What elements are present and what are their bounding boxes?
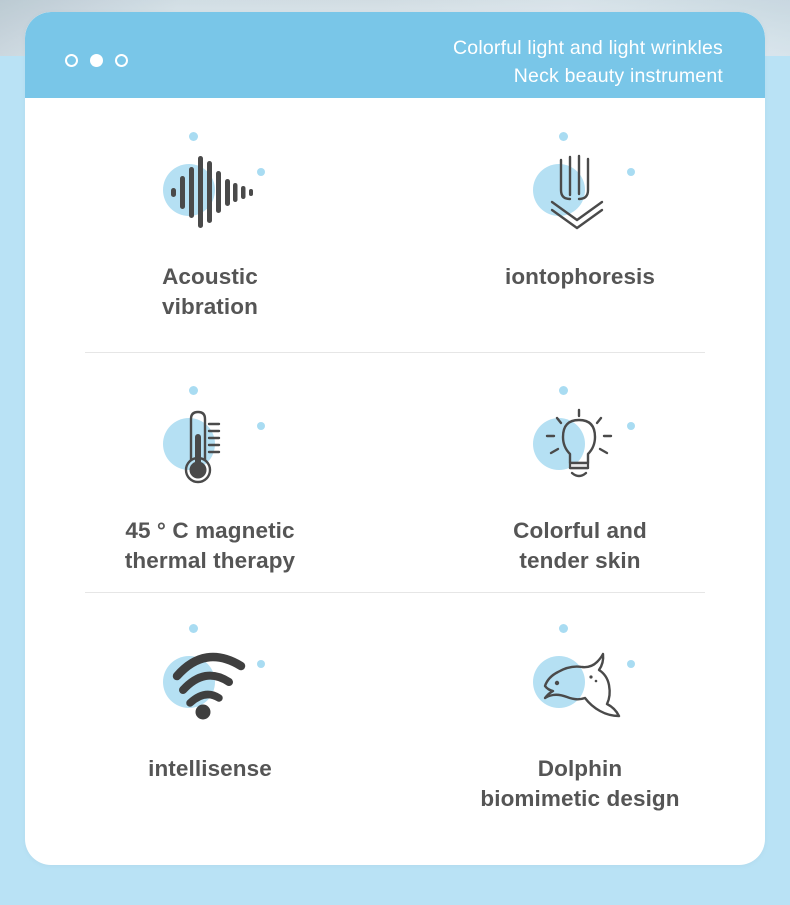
decorative-dot-icon	[559, 386, 568, 395]
feature-label-line-1: iontophoresis	[505, 264, 655, 289]
feature-item-iontophoresis[interactable]: iontophoresis	[395, 98, 765, 352]
feature-row-1: Acoustic vibration	[25, 98, 765, 352]
feature-label-line-1: Acoustic	[162, 264, 258, 289]
icon-wrap	[135, 634, 285, 738]
feature-item-tender-skin[interactable]: Colorful and tender skin	[395, 352, 765, 592]
feature-label: intellisense	[148, 754, 272, 784]
lightbulb-icon	[539, 408, 619, 495]
decorative-dot-icon	[559, 624, 568, 633]
header-title-block: Colorful light and light wrinkles Neck b…	[453, 34, 723, 91]
feature-label-line-2: thermal therapy	[125, 546, 295, 576]
feature-label: iontophoresis	[505, 262, 655, 292]
feature-label-line-1: Dolphin	[538, 756, 622, 781]
feature-label: Acoustic vibration	[162, 262, 258, 322]
card-header: Colorful light and light wrinkles Neck b…	[25, 12, 765, 98]
decorative-dot-icon	[257, 422, 265, 430]
feature-label: Colorful and tender skin	[513, 516, 647, 576]
header-title-line-2: Neck beauty instrument	[453, 62, 723, 90]
feature-item-thermal-therapy[interactable]: 45 ° C magnetic thermal therapy	[25, 352, 395, 592]
feature-label-line-2: tender skin	[513, 546, 647, 576]
icon-wrap	[505, 142, 655, 246]
feature-label-line-2: biomimetic design	[480, 784, 679, 814]
feature-item-intellisense[interactable]: intellisense	[25, 592, 395, 838]
feature-label-line-1: intellisense	[148, 756, 272, 781]
decorative-dot-icon	[189, 132, 198, 141]
decorative-dot-icon	[627, 660, 635, 668]
decorative-dot-icon	[257, 168, 265, 176]
icon-wrap	[135, 396, 285, 500]
decorative-dot-icon	[189, 386, 198, 395]
decorative-dot-icon	[257, 660, 265, 668]
decorative-dot-icon	[559, 132, 568, 141]
window-dot-hollow-right[interactable]	[115, 54, 128, 67]
product-feature-card: Colorful light and light wrinkles Neck b…	[25, 12, 765, 865]
feature-label: 45 ° C magnetic thermal therapy	[125, 516, 295, 576]
icon-wrap	[505, 634, 655, 738]
icon-wrap	[135, 142, 285, 246]
window-dot-solid-middle[interactable]	[90, 54, 103, 67]
feature-item-dolphin-design[interactable]: Dolphin biomimetic design	[395, 592, 765, 838]
window-dot-hollow-left[interactable]	[65, 54, 78, 67]
feature-item-acoustic-vibration[interactable]: Acoustic vibration	[25, 98, 395, 352]
feature-label-line-1: 45 ° C magnetic	[125, 518, 294, 543]
window-control-dots[interactable]	[65, 54, 128, 67]
icon-wrap	[505, 396, 655, 500]
iontophoresis-absorption-icon	[539, 154, 619, 239]
decorative-dot-icon	[627, 168, 635, 176]
soundwave-icon	[169, 154, 255, 235]
feature-label-line-2: vibration	[162, 292, 258, 322]
feature-label: Dolphin biomimetic design	[480, 754, 679, 814]
feature-row-2: 45 ° C magnetic thermal therapy	[25, 352, 765, 592]
feature-row-3: intellisense	[25, 592, 765, 838]
decorative-dot-icon	[189, 624, 198, 633]
wifi-icon	[169, 646, 253, 727]
decorative-dot-icon	[627, 422, 635, 430]
feature-label-line-1: Colorful and	[513, 518, 647, 543]
header-title-line-1: Colorful light and light wrinkles	[453, 34, 723, 62]
thermometer-icon	[169, 408, 239, 493]
feature-grid: Acoustic vibration	[25, 98, 765, 838]
dolphin-icon	[539, 646, 627, 729]
